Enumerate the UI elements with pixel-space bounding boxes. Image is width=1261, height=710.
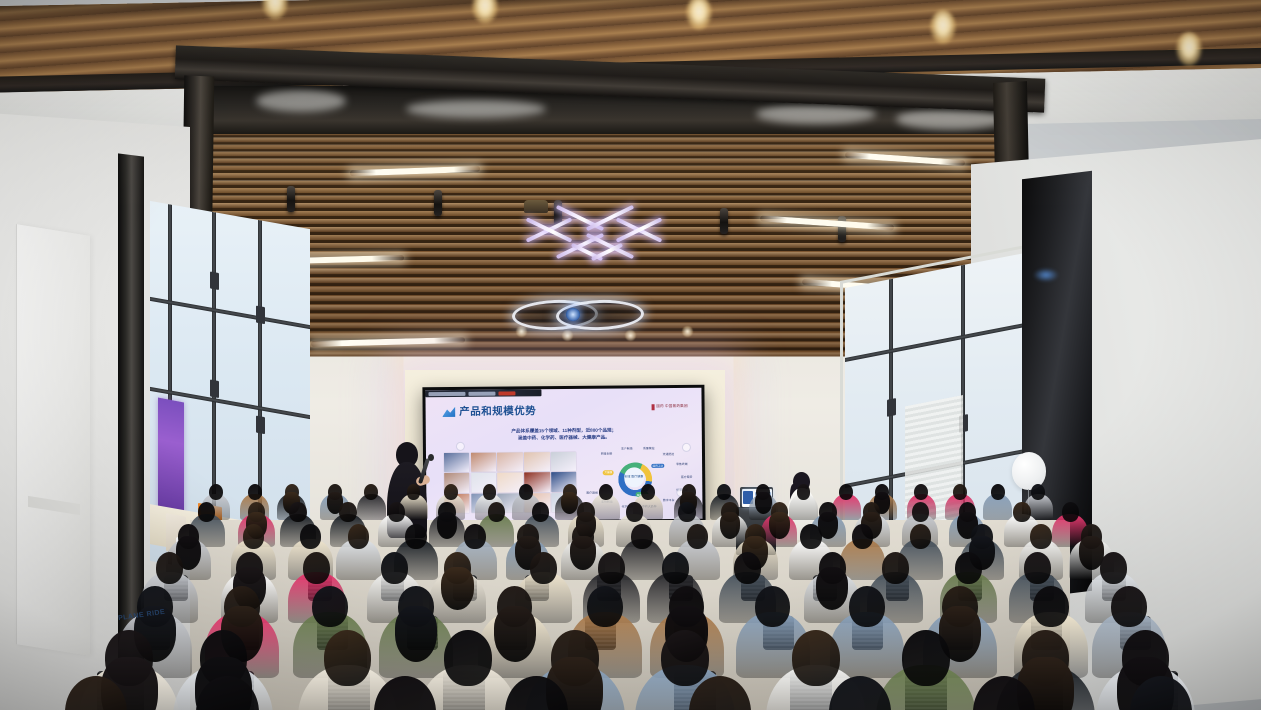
audience-head xyxy=(312,586,347,627)
corp-logo-text: 国药 中国医药集团 xyxy=(656,404,688,409)
audience-head xyxy=(626,502,643,522)
window-mullion xyxy=(845,322,1030,362)
audience-head xyxy=(1130,676,1192,710)
corporate-logo: 国药 中国医药集团 xyxy=(651,404,688,410)
audience-head xyxy=(953,484,967,500)
audience-head xyxy=(882,552,909,584)
audience-head xyxy=(910,524,931,549)
blue-light-reflection xyxy=(1033,268,1059,282)
audience-head xyxy=(388,502,405,522)
toolbar-chip[interactable] xyxy=(428,391,465,395)
toolbar-chip[interactable] xyxy=(469,391,495,395)
audience: PLANE RIDE xyxy=(0,440,1261,710)
audience-head xyxy=(641,484,655,500)
audience-head xyxy=(849,586,884,627)
presentation-room-photo: 产品和规模优势 国药 中国医药集团 产品体系覆盖15个领域、11种剂型，近800… xyxy=(0,0,1261,710)
window-hardware-icon xyxy=(256,306,265,325)
audience-head xyxy=(303,552,330,584)
audience-head xyxy=(156,552,183,584)
audience-head xyxy=(65,676,127,710)
audience-head xyxy=(955,552,982,584)
audience-head xyxy=(1033,586,1068,627)
audience-head xyxy=(209,484,223,500)
slide-title: 产品和规模优势 xyxy=(459,404,536,420)
audience-head xyxy=(300,524,321,549)
audience-head xyxy=(381,552,408,584)
audience-member xyxy=(471,676,602,710)
audience-head xyxy=(1013,502,1030,522)
audience-head xyxy=(488,502,505,522)
audience-member xyxy=(1096,676,1227,710)
slide-header: 产品和规模优势 xyxy=(442,404,536,420)
audience-head xyxy=(662,552,689,584)
audience-head xyxy=(444,484,458,500)
audience-head xyxy=(243,524,264,549)
audience-head xyxy=(532,502,549,522)
window-mullion xyxy=(150,297,310,329)
audience-head xyxy=(678,502,695,522)
audience-head xyxy=(1030,524,1051,549)
audience-head xyxy=(1062,502,1079,522)
audience-head xyxy=(755,586,790,627)
audience-head xyxy=(734,552,761,584)
audience-member xyxy=(795,676,926,710)
audience-head xyxy=(689,676,751,710)
logo-tick-icon xyxy=(651,404,654,410)
audience-head xyxy=(198,502,215,522)
audience-member xyxy=(938,676,1069,710)
audience-member xyxy=(31,676,162,710)
audience-head xyxy=(912,502,929,522)
audience-head xyxy=(1024,552,1051,584)
audience-head xyxy=(800,524,821,549)
audience-head xyxy=(631,524,652,549)
audience-head xyxy=(687,524,708,549)
window-hardware-icon xyxy=(887,398,896,417)
audience-member xyxy=(655,676,786,710)
audience-head xyxy=(530,552,557,584)
mountain-logo-icon xyxy=(442,407,455,417)
audience-head xyxy=(598,552,625,584)
audience-head xyxy=(1100,552,1127,584)
audience-head xyxy=(248,484,262,500)
window-hardware-icon xyxy=(210,271,219,290)
audience-head xyxy=(599,484,613,500)
audience-head xyxy=(587,586,622,627)
audience-head xyxy=(852,524,873,549)
audience-head xyxy=(991,484,1005,500)
audience-head xyxy=(289,502,306,522)
audience-head xyxy=(464,524,485,549)
audience-head xyxy=(374,676,436,710)
audience-head xyxy=(1111,586,1146,627)
audience-head xyxy=(339,502,356,522)
window-hardware-icon xyxy=(210,379,219,398)
audience-head xyxy=(405,524,426,549)
audience-head xyxy=(196,676,258,710)
audience-head xyxy=(505,676,567,710)
audience-head xyxy=(829,676,891,710)
audience-member xyxy=(162,676,293,710)
toolbar-exit-chip[interactable] xyxy=(498,391,516,395)
audience-head xyxy=(973,676,1035,710)
presentation-toolbar[interactable] xyxy=(425,389,541,397)
window-hardware-icon xyxy=(256,416,265,435)
audience-member xyxy=(340,676,471,710)
audience-head xyxy=(348,524,369,549)
